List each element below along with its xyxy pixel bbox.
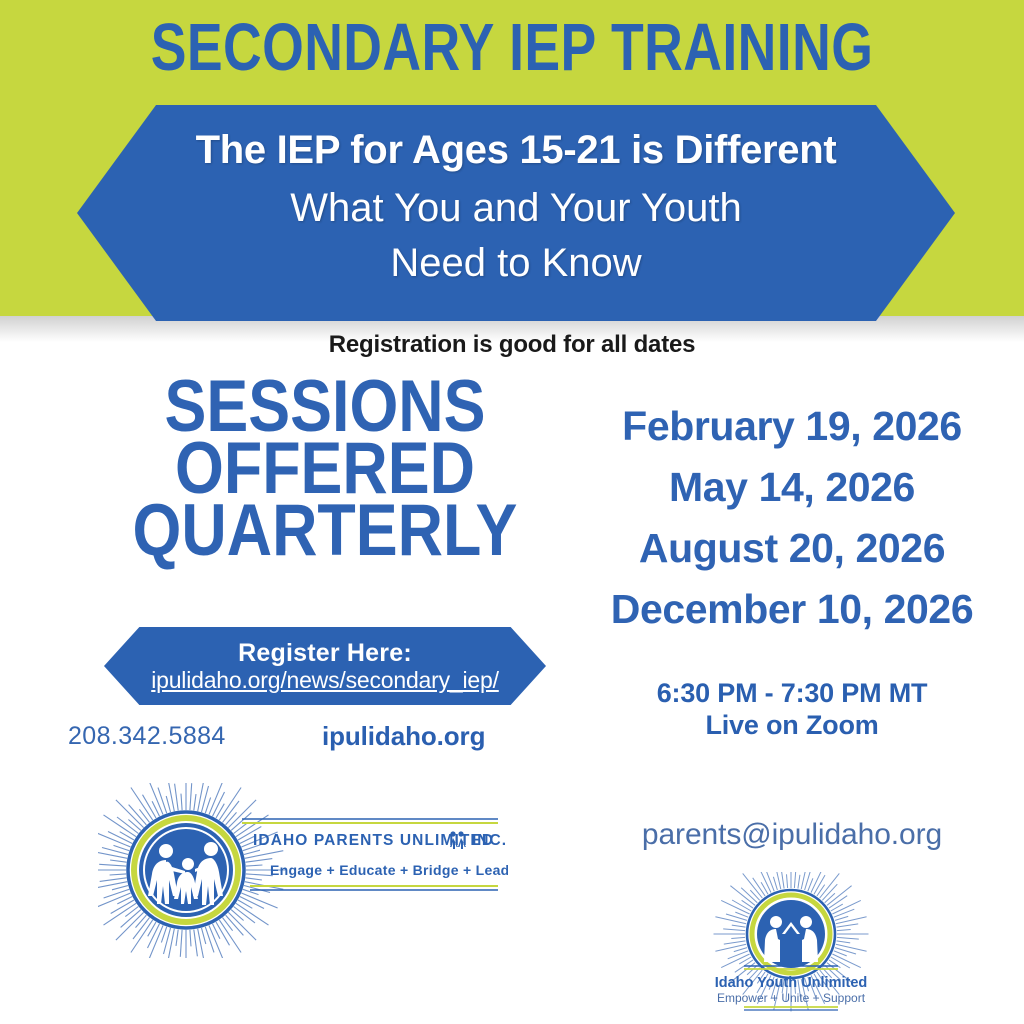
- ipu-logo-svg: IDAHO PARENTS UNLIMITED INC. Engage + Ed…: [98, 783, 508, 958]
- register-here-button[interactable]: Register Here: ipulidaho.org/news/second…: [104, 627, 546, 705]
- hero-headline: The IEP for Ages 15-21 is Different: [196, 127, 837, 173]
- sessions-line-3: QUARTERLY: [123, 500, 527, 562]
- hero-subline-1: What You and Your Youth: [290, 181, 742, 236]
- hero-banner-hexagon: The IEP for Ages 15-21 is Different What…: [77, 105, 955, 321]
- session-time-block: 6:30 PM - 7:30 PM MT Live on Zoom: [560, 677, 1024, 741]
- sessions-offered-heading: SESSIONS OFFERED QUARTERLY: [123, 376, 527, 562]
- phone-number[interactable]: 208.342.5884: [68, 722, 268, 751]
- ipu-logo-suffix: INC.: [472, 832, 507, 849]
- session-date: February 19, 2026: [560, 396, 1024, 457]
- session-platform: Live on Zoom: [560, 709, 1024, 741]
- session-date: December 10, 2026: [560, 579, 1024, 640]
- session-date: May 14, 2026: [560, 457, 1024, 518]
- website-url[interactable]: ipulidaho.org: [322, 721, 552, 752]
- ipu-logo-name: IDAHO PARENTS UNLIMITED: [253, 832, 494, 849]
- registration-note: Registration is good for all dates: [0, 331, 1024, 359]
- page-title: SECONDARY IEP TRAINING: [102, 14, 921, 81]
- ipu-logo-tagline: Engage + Educate + Bridge + Lead: [270, 862, 508, 878]
- register-here-label: Register Here:: [238, 639, 412, 667]
- hero-subline-2: Need to Know: [390, 236, 641, 291]
- iyu-logo-svg: Idaho Youth Unlimited Empower + Unite + …: [688, 872, 893, 1012]
- iyu-logo-tagline: Empower + Unite + Support: [717, 991, 866, 1005]
- idaho-parents-unlimited-logo: IDAHO PARENTS UNLIMITED INC. Engage + Ed…: [98, 783, 508, 958]
- session-dates-list: February 19, 2026 May 14, 2026 August 20…: [560, 396, 1024, 640]
- iyu-logo-name: Idaho Youth Unlimited: [715, 975, 868, 991]
- register-here-link[interactable]: ipulidaho.org/news/secondary_iep/: [151, 667, 499, 694]
- email-address[interactable]: parents@ipulidaho.org: [560, 818, 1024, 852]
- session-date: August 20, 2026: [560, 518, 1024, 579]
- idaho-youth-unlimited-logo: Idaho Youth Unlimited Empower + Unite + …: [688, 872, 893, 1012]
- session-time: 6:30 PM - 7:30 PM MT: [560, 677, 1024, 709]
